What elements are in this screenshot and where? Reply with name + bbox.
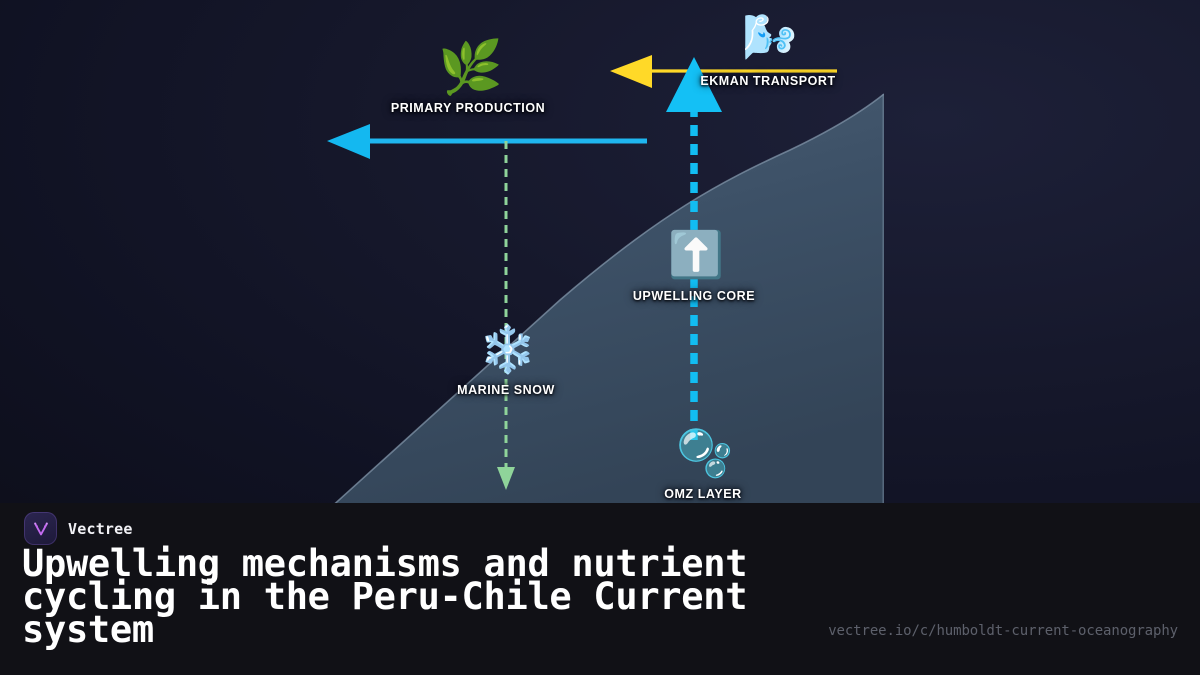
up-arrow-icon: ⬆️ bbox=[668, 232, 720, 277]
logo-glyph bbox=[31, 519, 51, 539]
screenshot-canvas: 🌿 PRIMARY PRODUCTION 🌬️ EKMAN TRANSPORT … bbox=[0, 0, 1200, 675]
surface-current-arrow bbox=[327, 124, 647, 159]
bubbles-icon: 🫧 bbox=[676, 430, 730, 476]
primary-production-label: PRIMARY PRODUCTION bbox=[368, 101, 568, 115]
brand-row: Vectree bbox=[24, 512, 133, 545]
wind-blowing-face-icon: 🌬️ bbox=[742, 16, 794, 60]
ekman-transport-label: EKMAN TRANSPORT bbox=[668, 74, 868, 88]
vectree-v-logo-icon bbox=[24, 512, 57, 545]
snowflake-icon: ❄️ bbox=[479, 326, 533, 372]
upwelling-diagram: 🌿 PRIMARY PRODUCTION 🌬️ EKMAN TRANSPORT … bbox=[0, 0, 1200, 540]
seafloor-shape bbox=[318, 94, 884, 520]
page-url: vectree.io/c/humboldt-current-oceanograp… bbox=[828, 623, 1178, 639]
diagram-svg bbox=[0, 0, 1200, 540]
omz-layer-label: OMZ LAYER bbox=[603, 487, 803, 501]
herb-leaf-icon: 🌿 bbox=[438, 42, 498, 94]
brand-name: Vectree bbox=[68, 520, 133, 538]
marine-snow-label: MARINE SNOW bbox=[406, 383, 606, 397]
upwelling-core-label: UPWELLING CORE bbox=[594, 289, 794, 303]
page-title: Upwelling mechanisms and nutrient cyclin… bbox=[22, 547, 782, 646]
